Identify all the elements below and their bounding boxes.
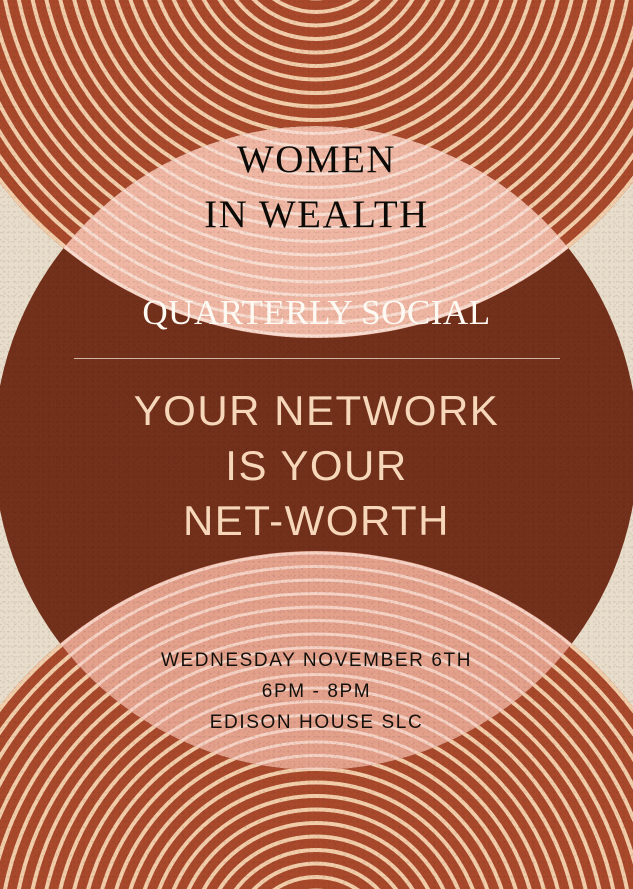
poster-text-content: WOMEN IN WEALTH QUARTERLY SOCIAL YOUR NE… bbox=[0, 0, 633, 889]
event-time: 6PM - 8PM bbox=[0, 676, 633, 707]
divider-rule bbox=[74, 358, 560, 359]
poster-canvas: WOMEN IN WEALTH QUARTERLY SOCIAL YOUR NE… bbox=[0, 0, 633, 889]
event-venue: EDISON HOUSE SLC bbox=[0, 707, 633, 738]
title-line-2: IN WEALTH bbox=[0, 187, 633, 242]
poster-subtitle: QUARTERLY SOCIAL bbox=[0, 292, 633, 334]
title-line-1: WOMEN bbox=[0, 132, 633, 187]
tagline-line-2: IS YOUR bbox=[0, 438, 633, 493]
tagline-line-1: YOUR NETWORK bbox=[0, 383, 633, 438]
poster-title: WOMEN IN WEALTH bbox=[0, 132, 633, 242]
poster-tagline: YOUR NETWORK IS YOUR NET-WORTH bbox=[0, 383, 633, 548]
event-details: WEDNESDAY NOVEMBER 6TH 6PM - 8PM EDISON … bbox=[0, 645, 633, 738]
event-date: WEDNESDAY NOVEMBER 6TH bbox=[0, 645, 633, 676]
tagline-line-3: NET-WORTH bbox=[0, 493, 633, 548]
